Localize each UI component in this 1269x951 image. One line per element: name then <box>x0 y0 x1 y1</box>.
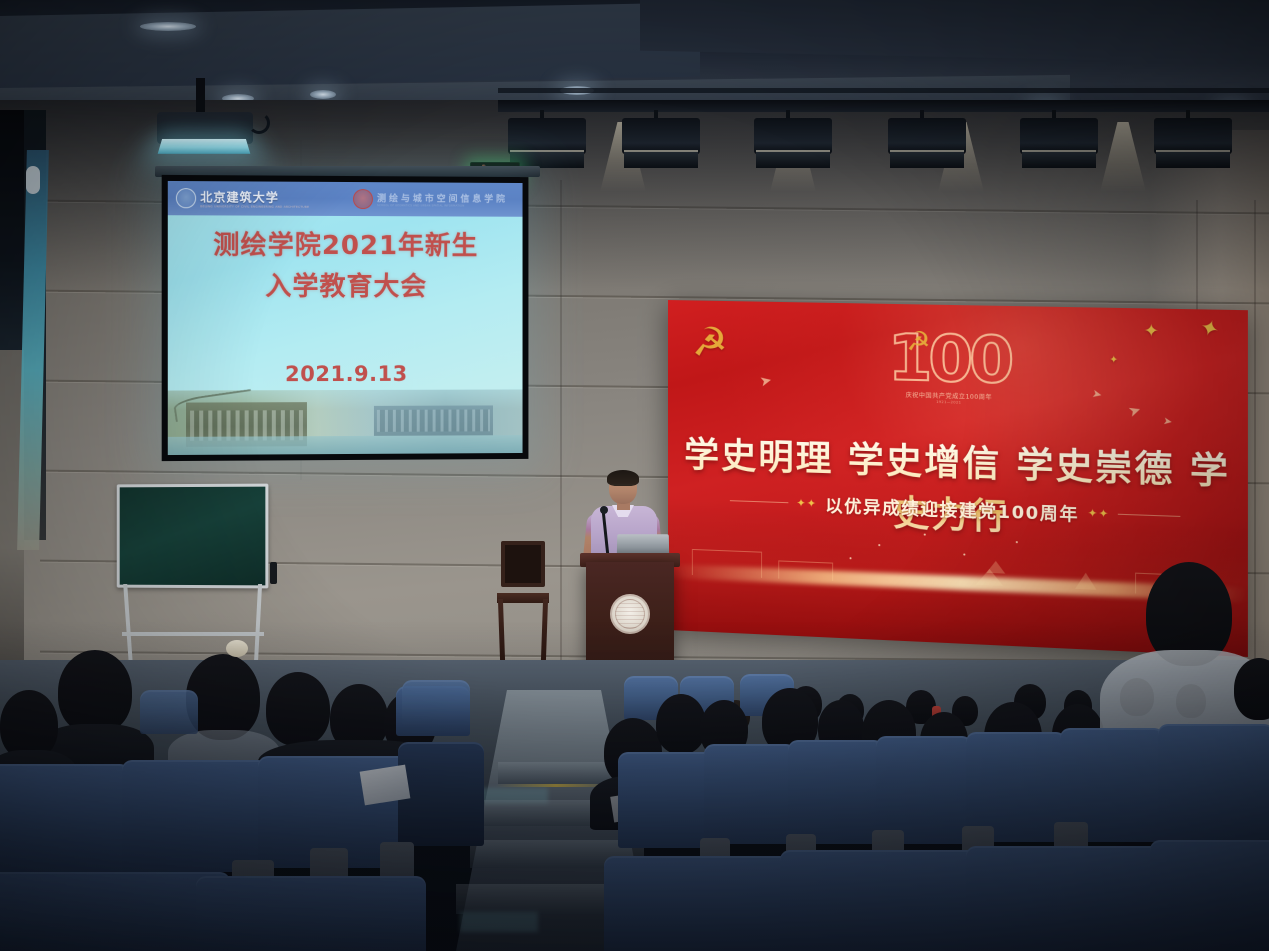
auditorium-seat <box>618 752 714 848</box>
projector-mount-pole <box>196 78 205 116</box>
chalkboard-crossbar <box>122 632 264 636</box>
ceiling-soffit-left <box>0 3 700 90</box>
chalkboard-leg <box>254 584 262 664</box>
auditorium-seat <box>788 740 884 844</box>
audience-head <box>656 694 706 754</box>
seal-inner-ring <box>615 599 645 629</box>
projected-slide: 北京建筑大学 BEIJING UNIVERSITY OF CIVIL ENGIN… <box>168 181 523 455</box>
stage-spotlight-icon <box>508 118 586 154</box>
hammer-and-sickle-icon: ☭ <box>692 322 736 367</box>
audience-head <box>266 672 330 746</box>
auditorium-seat <box>604 856 794 951</box>
school-logo-right: 测绘与城市空间信息学院 SCHOOL OF GEOMATICS AND URBA… <box>353 189 508 210</box>
auditorium-seat <box>966 846 1166 951</box>
slide-title-line1: 测绘学院2021年新生 <box>168 225 523 267</box>
star-icon: ✦✦ <box>796 496 817 510</box>
dove-icon: ➤ <box>1162 417 1172 429</box>
slide-campus-photo <box>168 389 523 455</box>
auditorium-seat <box>1150 840 1269 951</box>
chalkboard-icon <box>117 484 269 589</box>
auditorium-seat <box>1158 724 1269 842</box>
star-icon: ✦✦ <box>1088 506 1110 520</box>
school-seal-icon <box>353 189 373 209</box>
auditorium-seat <box>140 690 198 734</box>
aisle-step <box>498 762 612 784</box>
chair-leg <box>498 599 505 661</box>
auditorium-seat <box>196 876 426 951</box>
stage-spotlight-icon <box>1020 118 1098 154</box>
university-seal-icon <box>176 188 196 208</box>
sparkle <box>963 553 965 555</box>
auditorium-seat <box>402 680 470 726</box>
microphone-icon <box>600 506 608 514</box>
lighting-truss <box>498 100 1269 112</box>
projection-screen: 北京建筑大学 BEIJING UNIVERSITY OF CIVIL ENGIN… <box>162 175 529 461</box>
stage-spotlight-icon <box>622 118 700 154</box>
auditorium-photo: 🚶 ⟶ 安全出口 北京建筑大学 BEIJING UNIVERSITY OF CI… <box>0 0 1269 951</box>
stage-spotlight-icon <box>888 118 966 154</box>
school-name-en: SCHOOL OF GEOMATICS AND URBAN SPATIAL IN… <box>377 204 508 208</box>
auditorium-seat <box>704 744 796 844</box>
audience-head <box>58 650 132 734</box>
chair-leg <box>541 599 548 661</box>
lighting-truss-upper <box>498 88 1269 93</box>
school-name-cn: 测绘与城市空间信息学院 <box>377 191 508 205</box>
pagoda-silhouette <box>986 561 1005 574</box>
wall-switch-icon <box>270 562 277 584</box>
chair-backrest <box>501 541 545 587</box>
star-icon: ✦ <box>1109 356 1118 367</box>
slide-title-block: 测绘学院2021年新生 入学教育大会 <box>168 225 523 308</box>
projector-lens-icon <box>158 139 251 154</box>
projector-cable <box>248 112 270 134</box>
university-logo-left: 北京建筑大学 BEIJING UNIVERSITY OF CIVIL ENGIN… <box>176 188 309 210</box>
slide-title-line2: 入学教育大会 <box>168 267 523 309</box>
sparkle <box>878 544 880 546</box>
chair-seat <box>497 593 549 603</box>
party-centenary-emblem: ☭ 100 庆祝中国共产党成立100周年 1921—2021 <box>876 328 1022 426</box>
downlight-icon <box>310 90 336 99</box>
stage-spotlight-icon <box>754 118 832 154</box>
stage-spotlight-icon <box>1154 118 1232 154</box>
handout-paper <box>360 765 411 806</box>
chalkboard-surface <box>120 487 266 586</box>
auditorium-seat <box>398 742 484 846</box>
chalkboard-leg <box>123 584 133 664</box>
photo-building-right <box>374 405 493 435</box>
divider-right <box>1118 514 1181 517</box>
divider-left <box>730 500 788 503</box>
slide-date: 2021.9.13 <box>168 362 523 387</box>
sparkle <box>850 557 852 559</box>
auditorium-seat <box>122 760 268 872</box>
university-name-en: BEIJING UNIVERSITY OF CIVIL ENGINEERING … <box>200 205 309 209</box>
star-icon: ✦ <box>1144 323 1159 341</box>
auditorium-seat <box>0 764 130 874</box>
glasses-icon <box>612 484 634 489</box>
sparkle <box>924 534 926 536</box>
auditorium-seat <box>780 850 980 951</box>
hair-bun <box>226 640 248 657</box>
downlight-icon <box>140 22 196 31</box>
sparkle <box>1016 541 1018 543</box>
hammer-and-sickle-icon: ☭ <box>906 327 930 358</box>
wall-fixture-icon <box>26 166 40 194</box>
auditorium-seat <box>876 736 972 844</box>
slide-header: 北京建筑大学 BEIJING UNIVERSITY OF CIVIL ENGIN… <box>168 181 523 217</box>
step-light-glow <box>460 912 538 932</box>
university-name-cn: 北京建筑大学 <box>200 188 309 206</box>
mobile-chalkboard <box>116 484 268 664</box>
folding-chair-icon <box>495 541 551 661</box>
left-glass-panel <box>0 110 24 360</box>
university-seal-icon <box>610 594 650 634</box>
photo-waterfront <box>168 435 523 455</box>
